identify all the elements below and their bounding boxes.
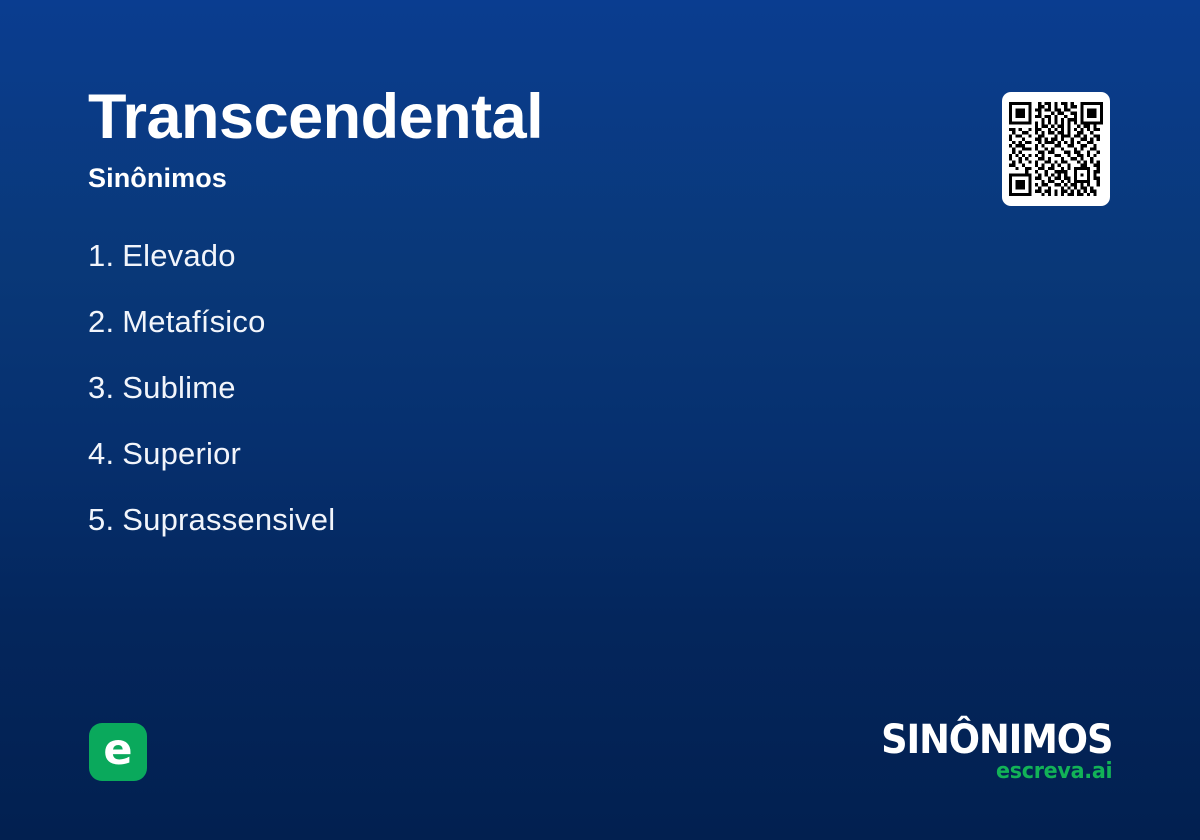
brand-logo-name: SINÔNIMOS [881,722,1112,759]
list-item: 5.Suprassensivel [88,499,888,565]
page-subtitle: Sinônimos [88,163,948,194]
escreva-app-badge[interactable]: e [89,723,147,781]
list-item-word: Suprassensivel [122,502,335,537]
list-item: 4.Superior [88,433,888,499]
page-title: Transcendental [88,86,948,149]
headline-block: Transcendental Sinônimos [88,86,948,194]
list-item-word: Superior [122,436,241,471]
qr-code-panel[interactable] [1002,92,1110,206]
qr-code-icon [1009,102,1103,196]
list-item: 2.Metafísico [88,301,888,367]
list-item-word: Elevado [122,238,235,273]
brand-badge-letter: e [103,729,132,772]
list-item-index: 3. [88,370,114,405]
list-item-word: Metafísico [122,304,265,339]
list-item-index: 5. [88,502,114,537]
list-item: 1.Elevado [88,235,888,301]
brand-logo-tagline: escreva.ai [876,760,1112,783]
list-item-word: Sublime [122,370,235,405]
list-item: 3.Sublime [88,367,888,433]
list-item-index: 4. [88,436,114,471]
list-item-index: 1. [88,238,114,273]
synonym-card: Transcendental Sinônimos 1.Elevado 2.Met… [0,0,1200,840]
synonym-list: 1.Elevado 2.Metafísico 3.Sublime 4.Super… [88,235,888,565]
list-item-index: 2. [88,304,114,339]
brand-logo[interactable]: SINÔNIMOS escreva.ai [861,722,1112,783]
